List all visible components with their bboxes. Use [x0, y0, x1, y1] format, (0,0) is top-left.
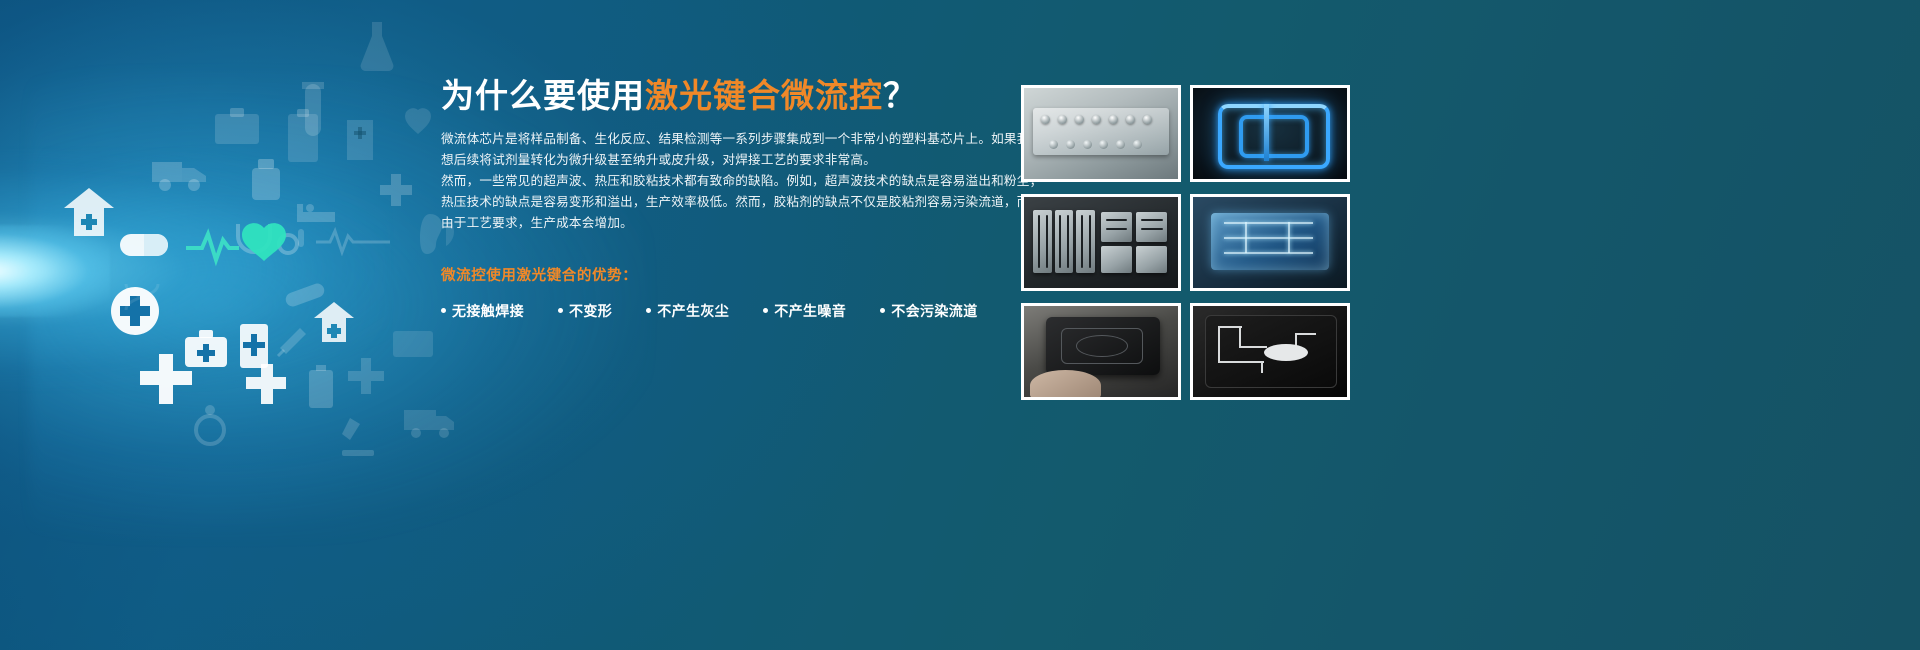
flask-icon	[355, 18, 399, 74]
gallery-photo-blue-glowing-serpentine-channel-chip[interactable]	[1190, 85, 1350, 182]
gallery-photo-clear-microfluidic-chip-strip[interactable]	[1021, 85, 1181, 182]
gallery-photo-black-cartridge-with-oval-chamber[interactable]	[1190, 303, 1350, 400]
headline-highlight: 激光键合微流控	[645, 77, 883, 114]
list-item: 不产生灰尘	[646, 301, 729, 321]
hand	[1030, 370, 1101, 400]
list-item: 不产生噪音	[763, 301, 846, 321]
gallery-photo-hand-holding-black-flexible-chip[interactable]	[1021, 303, 1181, 400]
list-item-label: 不变形	[569, 301, 612, 321]
page-title: 为什么要使用激光键合微流控？	[441, 78, 966, 115]
inner-channel	[1239, 115, 1309, 158]
paragraph-line: 然而，一些常见的超声波、热压和胶粘技术都有致命的缺陷。例如，超声波技术的缺点是容…	[441, 171, 966, 192]
gallery-photo-grey-microfluidic-chip-array[interactable]	[1021, 194, 1181, 291]
bullet-dot-icon	[441, 308, 446, 313]
advantages-heading: 微流控使用激光键合的优势：	[441, 264, 966, 285]
product-photo-gallery	[1021, 85, 1350, 400]
list-item-label: 不产生噪音	[774, 301, 846, 321]
promo-banner: 为什么要使用激光键合微流控？ 微流体芯片是将样品制备、生化反应、结果检测等一系列…	[0, 0, 1920, 650]
list-item-label: 不产生灰尘	[657, 301, 729, 321]
paragraph-line: 想后续将试剂量转化为微升级甚至纳升或皮升级，对焊接工艺的要求非常高。	[441, 150, 966, 171]
gallery-photo-blue-transparent-manifold-block[interactable]	[1190, 194, 1350, 291]
bullet-dot-icon	[646, 308, 651, 313]
text-column: 为什么要使用激光键合微流控？ 微流体芯片是将样品制备、生化反应、结果检测等一系列…	[441, 78, 966, 321]
headline-part-2: ？	[883, 77, 917, 114]
bullet-dot-icon	[558, 308, 563, 313]
list-item-label: 无接触焊接	[452, 301, 524, 321]
light-beam-core	[0, 225, 110, 317]
channel-divider	[1264, 104, 1269, 160]
list-item: 无接触焊接	[441, 301, 524, 321]
description-paragraph: 微流体芯片是将样品制备、生化反应、结果检测等一系列步骤集成到一个非常小的塑料基芯…	[441, 129, 966, 234]
list-item-label: 不会污染流道	[891, 301, 977, 321]
paragraph-line: 热压技术的缺点是容易变形和溢出，生产效率极低。然而，胶粘剂的缺点不仅是胶粘剂容易…	[441, 192, 966, 213]
bullet-dot-icon	[880, 308, 885, 313]
headline-part-1: 为什么要使用	[441, 77, 645, 114]
list-item: 不变形	[558, 301, 612, 321]
list-item: 不会污染流道	[880, 301, 977, 321]
paragraph-line: 微流体芯片是将样品制备、生化反应、结果检测等一系列步骤集成到一个非常小的塑料基芯…	[441, 129, 966, 150]
advantages-list: 无接触焊接 不变形 不产生灰尘 不产生噪音 不会污染流道	[441, 301, 966, 321]
paragraph-line: 由于工艺要求，生产成本会增加。	[441, 213, 966, 234]
bullet-dot-icon	[763, 308, 768, 313]
